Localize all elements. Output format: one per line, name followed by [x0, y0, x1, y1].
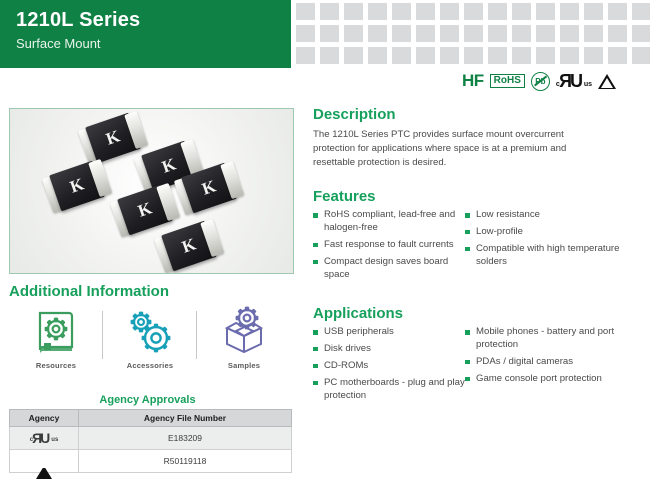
checker-square [560, 3, 579, 20]
table-row: cURusE183209 [10, 427, 292, 450]
features-left-column: RoHS compliant, lead-free and halogen-fr… [313, 209, 465, 286]
tuv-triangle-icon [598, 74, 616, 89]
ul-prefix: c [30, 437, 33, 445]
hf-icon: HF [462, 71, 484, 91]
checker-square [632, 25, 650, 42]
checker-square [512, 25, 531, 42]
applications-right-list: Mobile phones - battery and port protect… [465, 326, 650, 386]
applications-section: Applications USB peripheralsDisk drivesC… [313, 305, 650, 407]
header-band: 1210L Series Surface Mount [0, 0, 291, 68]
features-right-list: Low resistanceLow-profileCompatible with… [465, 209, 650, 269]
additional-info-label: Resources [36, 361, 76, 370]
checker-square [368, 25, 387, 42]
column-header-agency: Agency [10, 410, 79, 427]
list-item: Disk drives [313, 343, 465, 356]
description-heading: Description [313, 106, 650, 123]
certification-marks: HF RoHS Pb c UR us [462, 70, 616, 92]
agency-approvals-table: Agency Agency File Number cURusE183209R5… [9, 409, 292, 473]
additional-info-label: Accessories [127, 361, 173, 370]
checker-row [296, 47, 650, 64]
ul-glyph: UR [561, 72, 583, 90]
checker-square [344, 3, 363, 20]
agency-mark-cell: cURus [10, 427, 79, 450]
product-chip: K [110, 182, 181, 238]
agency-approvals-heading: Agency Approvals [0, 394, 295, 406]
checker-square [440, 47, 459, 64]
checker-square [584, 3, 603, 20]
chip-marking: K [42, 158, 113, 214]
lead-free-icon: Pb [531, 72, 550, 91]
box-gear-icon [217, 305, 271, 359]
tuv-triangle-icon [36, 456, 52, 479]
checker-square [536, 3, 555, 20]
applications-left-list: USB peripheralsDisk drivesCD-ROMsPC moth… [313, 326, 465, 403]
checker-square [296, 25, 315, 42]
checker-square [632, 3, 650, 20]
checker-square [392, 25, 411, 42]
checker-square [320, 25, 339, 42]
datasheet-page: 1210L Series Surface Mount HF RoHS Pb c … [0, 0, 650, 471]
list-item: RoHS compliant, lead-free and halogen-fr… [313, 209, 465, 235]
checker-square [344, 25, 363, 42]
list-item: Fast response to fault currents [313, 239, 465, 252]
product-chip: K [42, 158, 113, 214]
gears-icon [124, 305, 176, 359]
column-header-file-number: Agency File Number [79, 410, 292, 427]
table-header-row: Agency Agency File Number [10, 410, 292, 427]
list-item: USB peripherals [313, 326, 465, 339]
description-section: Description The 1210L Series PTC provide… [313, 106, 650, 170]
list-item: Game console port protection [465, 373, 650, 386]
checker-square [320, 47, 339, 64]
ul-suffix: us [51, 437, 58, 445]
page-subtitle: Surface Mount [16, 36, 101, 51]
checker-square [440, 25, 459, 42]
checker-square [560, 25, 579, 42]
list-item: PDAs / digital cameras [465, 356, 650, 369]
features-right-column: Low resistanceLow-profileCompatible with… [465, 209, 650, 286]
checker-square [512, 3, 531, 20]
product-photo: KKKKKK [9, 108, 294, 274]
checker-square [464, 47, 483, 64]
checker-square [536, 25, 555, 42]
checker-square [392, 3, 411, 20]
chip-marking: K [154, 218, 225, 274]
applications-left-column: USB peripheralsDisk drivesCD-ROMsPC moth… [313, 326, 465, 407]
header-checker-pattern [296, 3, 650, 65]
table-row: R50119118 [10, 450, 292, 473]
checker-square [296, 3, 315, 20]
checker-row [296, 25, 650, 42]
list-item: Compact design saves board space [313, 256, 465, 282]
product-photo-canvas: KKKKKK [10, 109, 293, 273]
checker-square [392, 47, 411, 64]
checker-square [608, 3, 627, 20]
additional-info-item-resources[interactable]: Resources [9, 305, 103, 370]
checker-square [344, 47, 363, 64]
list-item: Low resistance [465, 209, 650, 222]
applications-heading: Applications [313, 305, 650, 322]
rohs-icon: RoHS [490, 74, 525, 88]
checker-square [488, 25, 507, 42]
checker-square [464, 25, 483, 42]
ul-icon: c UR us [556, 72, 592, 90]
page-title: 1210L Series [16, 9, 140, 32]
list-item: Mobile phones - battery and port protect… [465, 326, 650, 352]
checker-square [488, 47, 507, 64]
checker-square [440, 3, 459, 20]
description-body: The 1210L Series PTC provides surface mo… [313, 128, 575, 170]
ul-prefix: c [556, 81, 560, 90]
checker-square [416, 3, 435, 20]
checker-square [488, 3, 507, 20]
features-heading: Features [313, 188, 650, 205]
checker-square [536, 47, 555, 64]
agency-file-number: R50119118 [79, 450, 292, 473]
ul-icon: cURus [10, 431, 78, 445]
additional-information-icons: ResourcesAccessoriesSamples [9, 305, 292, 383]
ul-glyph: UR [34, 431, 50, 445]
features-section: Features RoHS compliant, lead-free and h… [313, 188, 650, 286]
checker-square [368, 47, 387, 64]
checker-square [368, 3, 387, 20]
book-gear-icon [31, 305, 81, 359]
checker-square [416, 47, 435, 64]
checker-square [608, 47, 627, 64]
lead-free-label: Pb [535, 77, 545, 86]
additional-info-item-accessories[interactable]: Accessories [103, 305, 197, 370]
list-item: Low-profile [465, 226, 650, 239]
applications-right-column: Mobile phones - battery and port protect… [465, 326, 650, 407]
list-item: CD-ROMs [313, 360, 465, 373]
checker-row [296, 3, 650, 20]
checker-square [584, 47, 603, 64]
list-item: Compatible with high temperature solders [465, 243, 650, 269]
product-chip: K [154, 218, 225, 274]
checker-square [296, 47, 315, 64]
checker-square [584, 25, 603, 42]
checker-square [320, 3, 339, 20]
ul-suffix: us [584, 81, 592, 90]
agency-mark-cell [10, 450, 79, 473]
checker-square [632, 47, 650, 64]
additional-information-heading: Additional Information [9, 283, 169, 300]
list-item: PC motherboards - plug and play protecti… [313, 377, 465, 403]
agency-file-number: E183209 [79, 427, 292, 450]
checker-square [560, 47, 579, 64]
chip-marking: K [110, 182, 181, 238]
features-left-list: RoHS compliant, lead-free and halogen-fr… [313, 209, 465, 282]
checker-square [464, 3, 483, 20]
additional-info-label: Samples [228, 361, 260, 370]
additional-info-item-samples[interactable]: Samples [197, 305, 291, 370]
checker-square [512, 47, 531, 64]
checker-square [416, 25, 435, 42]
checker-square [608, 25, 627, 42]
